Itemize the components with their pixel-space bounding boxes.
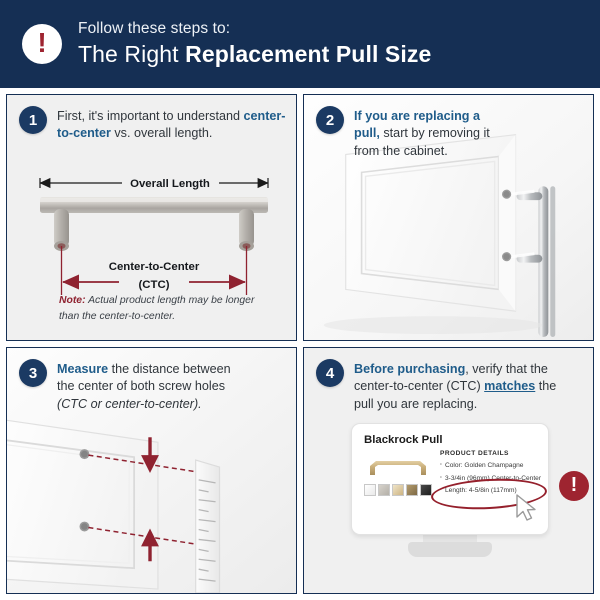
step-4-text-a: Before purchasing	[354, 362, 465, 376]
header-kicker: Follow these steps to:	[78, 20, 431, 38]
step-3-header: 3 Measure the distance between the cente…	[19, 360, 286, 413]
product-title: Blackrock Pull	[364, 434, 443, 446]
monitor-stand-base	[408, 542, 492, 557]
step-number-badge-3: 3	[19, 359, 47, 387]
steps-grid: 1 First, it's important to understand ce…	[6, 94, 594, 594]
step-number-badge-4: 4	[316, 359, 344, 387]
step-1-note: Note: Actual product length may be longe…	[59, 293, 269, 324]
exclamation-glyph: !	[37, 29, 46, 57]
mouse-pointer-icon	[514, 493, 540, 523]
swatch-thumbnail-5[interactable]	[420, 484, 432, 496]
header-banner: ! Follow these steps to: The Right Repla…	[0, 0, 600, 88]
swatch-thumbnail-3[interactable]	[392, 484, 404, 496]
product-swatch-row[interactable]	[364, 484, 432, 496]
step-panel-2: 2 If you are replacing a pull, start by …	[303, 94, 594, 341]
step-3-text: Measure the distance between the center …	[57, 360, 249, 413]
step-4-header: 4 Before purchasing, verify that the cen…	[316, 360, 583, 413]
swatch-thumbnail-4[interactable]	[406, 484, 418, 496]
step-1-header: 1 First, it's important to understand ce…	[19, 107, 286, 143]
headline-bold: Replacement Pull Size	[185, 41, 431, 67]
alert-exclamation-icon: !	[22, 24, 62, 64]
note-prefix: Note:	[59, 295, 86, 306]
step-panel-3: 3 Measure the distance between the cente…	[6, 347, 297, 594]
step-3-text-c: (CTC or center-to-center).	[57, 397, 202, 411]
step-4-text-matches-link[interactable]: matches	[484, 379, 535, 393]
overall-length-label: Overall Length	[130, 178, 210, 190]
product-pull-image	[365, 454, 431, 480]
alert-exclamation-icon-card: !	[559, 471, 589, 501]
product-detail-color: Color: Golden Champagne	[440, 461, 544, 471]
product-details-heading: PRODUCT DETAILS	[440, 450, 544, 457]
headline-light: The Right	[78, 41, 185, 67]
ctc-label-line2: (CTC)	[139, 279, 170, 291]
page-title: The Right Replacement Pull Size	[78, 41, 431, 68]
step-3-text-a: Measure	[57, 362, 108, 376]
step-1-text: First, it's important to understand cent…	[57, 107, 286, 143]
step-number-badge-1: 1	[19, 106, 47, 134]
step-number-badge-2: 2	[316, 106, 344, 134]
step-1-text-c: vs. overall length.	[111, 126, 213, 140]
step-2-text: If you are replacing a pull, start by re…	[354, 107, 506, 160]
step-2-header: 2 If you are replacing a pull, start by …	[316, 107, 583, 160]
step-1-text-a: First, it's important to understand	[57, 109, 244, 123]
step-4-text: Before purchasing, verify that the cente…	[354, 360, 566, 413]
swatch-thumbnail-1[interactable]	[364, 484, 376, 496]
swatch-thumbnail-2[interactable]	[378, 484, 390, 496]
step-panel-1: 1 First, it's important to understand ce…	[6, 94, 297, 341]
ctc-label-line1: Center-to-Center	[109, 261, 200, 273]
product-monitor-mockup: Blackrock Pull	[351, 423, 549, 551]
step-panel-4: 4 Before purchasing, verify that the cen…	[303, 347, 594, 594]
header-text-block: Follow these steps to: The Right Replace…	[78, 20, 431, 68]
infographic-root: ! Follow these steps to: The Right Repla…	[0, 0, 600, 600]
note-text: Actual product length may be longer than…	[59, 295, 254, 322]
exclamation-glyph-card: !	[571, 475, 578, 495]
